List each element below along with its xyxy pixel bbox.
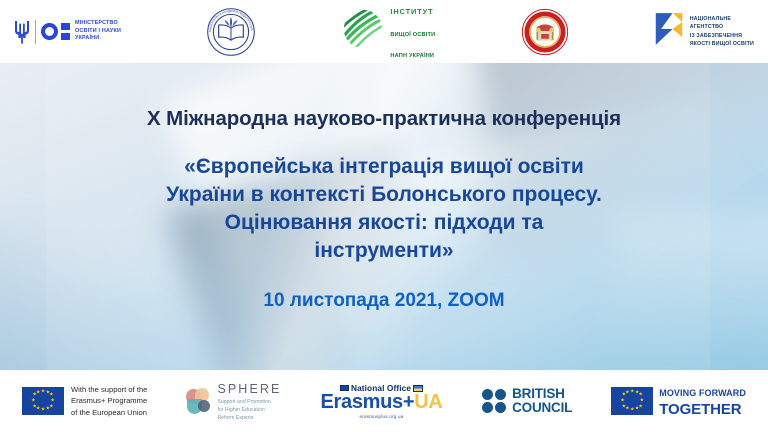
erasmus-wordmark: Erasmus+UA: [320, 391, 442, 413]
banner-hero: X Міжнародна науково-практична конференц…: [0, 63, 768, 370]
conference-slide: МІНІСТЕРСТВО ОСВІТИ І НАУКИ УКРАЇНИ: [0, 0, 768, 432]
trident-icon: [14, 19, 30, 45]
conference-theme: «Європейська інтеграція вищої освіти Укр…: [166, 153, 602, 265]
moving-forward-together-label: MOVING FORWARD TOGETHER: [659, 383, 746, 419]
institute-label: ІНСТИТУТ ВИЩОЇ ОСВІТИ НАПН УКРАЇНИ: [390, 0, 435, 64]
eu-support-label: With the support of the Erasmus+ Program…: [71, 384, 147, 418]
theme-line-3: Оцінювання якості: підходи та: [166, 209, 602, 237]
eu-flag-icon: [340, 385, 349, 392]
logo-national-academy-educational-sciences: НАЦІОНАЛЬНА АКАДЕМІЯ ПЕДАГОГІЧНИХ: [206, 7, 256, 57]
sphere-label: SPHERE Support and Promotion for Higher …: [217, 379, 281, 422]
british-council-label: BRITISH COUNCIL: [512, 387, 572, 415]
eu-flag-icon: ★ ★ ★ ★ ★ ★ ★ ★ ★ ★ ★ ★: [22, 387, 64, 415]
logo-moving-forward-together: ★ ★ ★ ★ ★ ★ ★ ★ ★ ★ ★ ★ MOVING FORWARD T…: [611, 383, 746, 419]
theme-line-1: «Європейська інтеграція вищої освіти: [166, 153, 602, 181]
erasmus-url: erasmusplus.org.ua: [320, 414, 442, 419]
logo-sphere: SPHERE Support and Promotion for Higher …: [186, 379, 281, 422]
logo-divider: [35, 20, 36, 44]
sphere-mark-icon: [186, 388, 212, 414]
logo-national-agency-quality-assurance: НАЦІОНАЛЬНЕ АГЕНТСТВО ІЗ ЗАБЕЗПЕЧЕННЯ ЯК…: [654, 10, 754, 53]
green-globe-icon: [341, 7, 385, 56]
mon-emblem-icon: [41, 23, 70, 40]
logo-erasmus-eu-support: ★ ★ ★ ★ ★ ★ ★ ★ ★ ★ ★ ★ With the support…: [22, 384, 147, 418]
naqa-label: НАЦІОНАЛЬНЕ АГЕНТСТВО ІЗ ЗАБЕЗПЕЧЕННЯ ЯК…: [690, 15, 754, 49]
theme-line-4: інструменти»: [166, 237, 602, 265]
red-coat-of-arms-seal-icon: [521, 8, 569, 56]
conference-date: 10 листопада 2021, ZOOM: [263, 290, 504, 312]
book-quill-seal-icon: НАЦІОНАЛЬНА АКАДЕМІЯ ПЕДАГОГІЧНИХ: [206, 7, 256, 57]
logo-british-council: BRITISH COUNCIL: [482, 387, 573, 415]
logo-university-red-seal: [521, 8, 569, 56]
logo-institute-higher-education: ІНСТИТУТ ВИЩОЇ ОСВІТИ НАПН УКРАЇНИ: [341, 0, 435, 64]
conference-title: X Міжнародна науково-практична конференц…: [147, 107, 621, 131]
footer-logo-bar: ★ ★ ★ ★ ★ ★ ★ ★ ★ ★ ★ ★ With the support…: [0, 370, 768, 432]
logo-erasmus-plus-ua: National Office Erasmus+UA erasmusplus.o…: [320, 383, 442, 419]
naqa-arrow-icon: [654, 10, 684, 53]
logo-ministry-education-science-ukraine: МІНІСТЕРСТВО ОСВІТИ І НАУКИ УКРАЇНИ: [14, 19, 121, 45]
ministry-label: МІНІСТЕРСТВО ОСВІТИ І НАУКИ УКРАЇНИ: [75, 20, 121, 43]
header-logo-bar: МІНІСТЕРСТВО ОСВІТИ І НАУКИ УКРАЇНИ: [0, 0, 768, 63]
four-dots-icon: [482, 389, 507, 414]
eu-flag-icon: ★ ★ ★ ★ ★ ★ ★ ★ ★ ★ ★ ★: [611, 387, 653, 415]
theme-line-2: України в контексті Болонського процесу.: [166, 181, 602, 209]
